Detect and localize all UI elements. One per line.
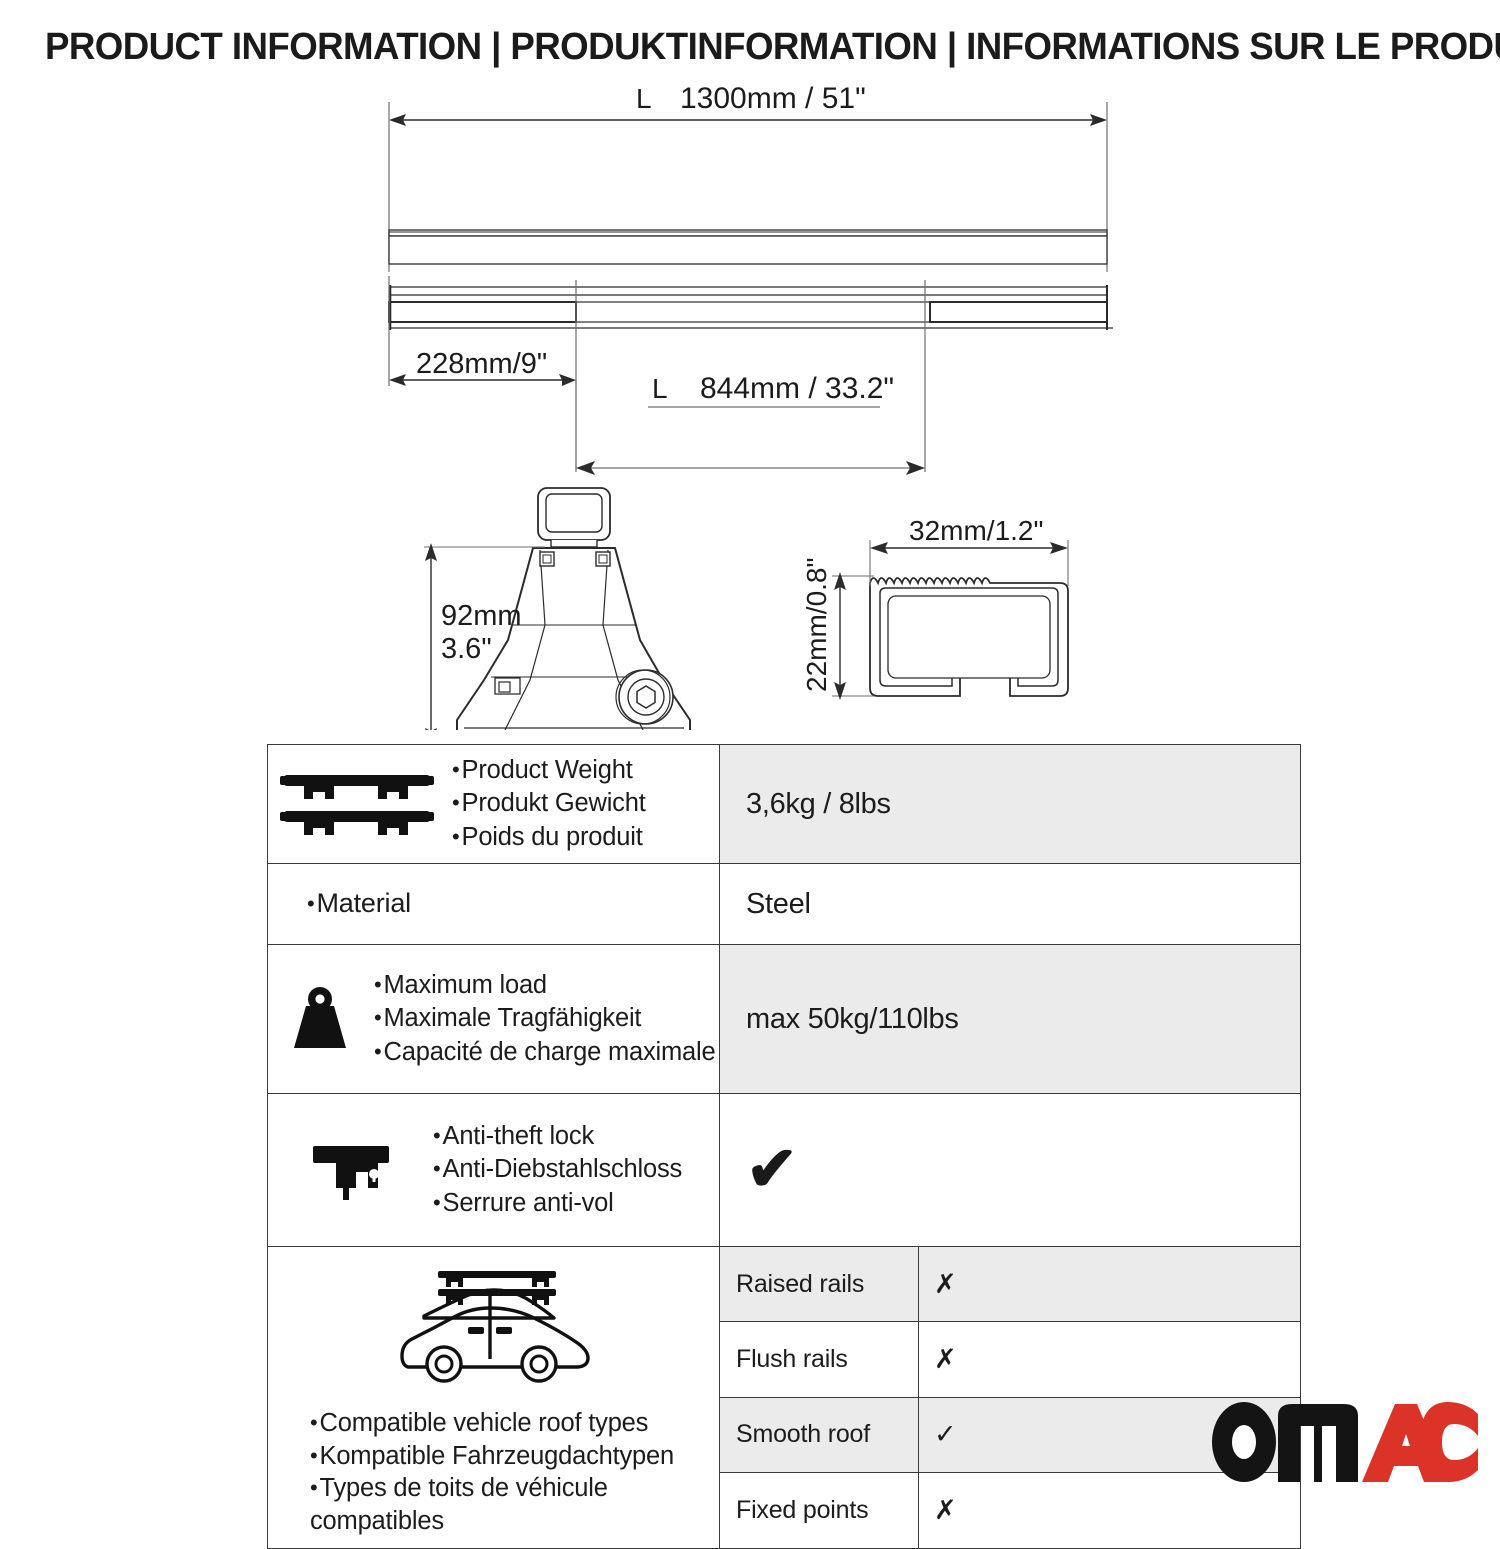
roof-type-mark-fixed-points: ✗ (919, 1473, 1301, 1548)
compat-label-cell: Compatible vehicle roof types Kompatible… (268, 1247, 720, 1549)
table-row-material: Material Steel (268, 864, 1301, 945)
label-fr: Capacité de charge maximale (374, 1036, 715, 1069)
dim-span-prefix: L (652, 373, 668, 404)
car-with-rack-icon (268, 1263, 719, 1389)
label-fr: Poids du produit (452, 821, 646, 854)
maxload-labels: Maximum load Maximale Tragfähigkeit Capa… (372, 969, 715, 1068)
dim-profile-height-value: 22mm/0.8" (801, 558, 832, 692)
material-label-cell: Material (268, 864, 720, 945)
table-row-compatible-roof-types: Compatible vehicle roof types Kompatible… (268, 1247, 1301, 1322)
dim-profile-width-value: 32mm/1.2" (909, 515, 1043, 546)
specification-table: Product Weight Produkt Gewicht Poids du … (267, 744, 1301, 1549)
label-en: Maximum load (374, 969, 715, 1002)
maxload-value-cell: max 50kg/110lbs (720, 945, 1301, 1094)
label-en: Compatible vehicle roof types (310, 1407, 719, 1440)
roof-type-name-smooth-roof: Smooth roof (720, 1397, 919, 1472)
label-fr: Serrure anti-vol (433, 1187, 682, 1220)
logo-letter-o (1212, 1402, 1276, 1482)
weight-label-cell: Product Weight Produkt Gewicht Poids du … (268, 745, 720, 864)
dim-foot-offset-value: 228mm/9" (416, 348, 547, 380)
roof-type-mark-raised-rails: ✗ (919, 1247, 1301, 1322)
dim-bar-length-prefix: L (636, 83, 652, 114)
logo-letter-c (1420, 1402, 1478, 1482)
table-row-product-weight: Product Weight Produkt Gewicht Poids du … (268, 745, 1301, 864)
product-information-sheet: PRODUCT INFORMATION | PRODUKTINFORMATION… (0, 0, 1500, 1500)
logo-letter-m (1278, 1404, 1358, 1482)
label-en: Material (307, 886, 411, 921)
dim-tower-height-line2: 3.6" (441, 633, 492, 665)
label-en: Anti-theft lock (433, 1120, 682, 1153)
lock-label-cell: Anti-theft lock Anti-Diebstahlschloss Se… (268, 1094, 720, 1247)
weight-value: 3,6kg / 8lbs (720, 788, 1300, 821)
page-title: PRODUCT INFORMATION | PRODUKTINFORMATION… (45, 26, 1415, 69)
weight-labels: Product Weight Produkt Gewicht Poids du … (446, 754, 646, 853)
dim-bar-length-value: 1300mm / 51" (680, 82, 866, 115)
lock-labels: Anti-theft lock Anti-Diebstahlschloss Se… (433, 1120, 682, 1219)
material-value: Steel (720, 888, 1300, 921)
weight-value-cell: 3,6kg / 8lbs (720, 745, 1301, 864)
label-de: Anti-Diebstahlschloss (433, 1153, 682, 1186)
label-de: Kompatible Fahrzeugdachtypen (310, 1440, 719, 1473)
maxload-value: max 50kg/110lbs (720, 1003, 1300, 1036)
dim-span-value: 844mm / 33.2" (700, 372, 894, 405)
roof-type-name-flush-rails: Flush rails (720, 1322, 919, 1397)
table-row-maximum-load: Maximum load Maximale Tragfähigkeit Capa… (268, 945, 1301, 1094)
label-en: Product Weight (452, 754, 646, 787)
roof-type-name-raised-rails: Raised rails (720, 1247, 919, 1322)
technical-drawing: L 1300mm / 51" 228mm/9" L 844mm / 33.2" … (0, 80, 1500, 730)
crossbars-icon (268, 767, 446, 841)
lock-icon (268, 1138, 433, 1202)
lock-checkmark: ✔ (720, 1139, 1300, 1201)
table-row-anti-theft-lock: Anti-theft lock Anti-Diebstahlschloss Se… (268, 1094, 1301, 1247)
label-de: Produkt Gewicht (452, 787, 646, 820)
lock-value-cell: ✔ (720, 1094, 1301, 1247)
roof-type-name-fixed-points: Fixed points (720, 1473, 919, 1548)
dim-tower-height-line1: 92mm (441, 600, 522, 632)
compat-labels: Compatible vehicle roof types Kompatible… (310, 1407, 719, 1538)
material-labels: Material (307, 886, 411, 921)
label-fr: Types de toits de véhicule compatibles (310, 1472, 690, 1537)
material-value-cell: Steel (720, 864, 1301, 945)
weight-icon (268, 982, 372, 1056)
maxload-label-cell: Maximum load Maximale Tragfähigkeit Capa… (268, 945, 720, 1094)
roof-type-mark-flush-rails: ✗ (919, 1322, 1301, 1397)
label-de: Maximale Tragfähigkeit (374, 1002, 715, 1035)
omac-logo (1210, 1402, 1478, 1482)
